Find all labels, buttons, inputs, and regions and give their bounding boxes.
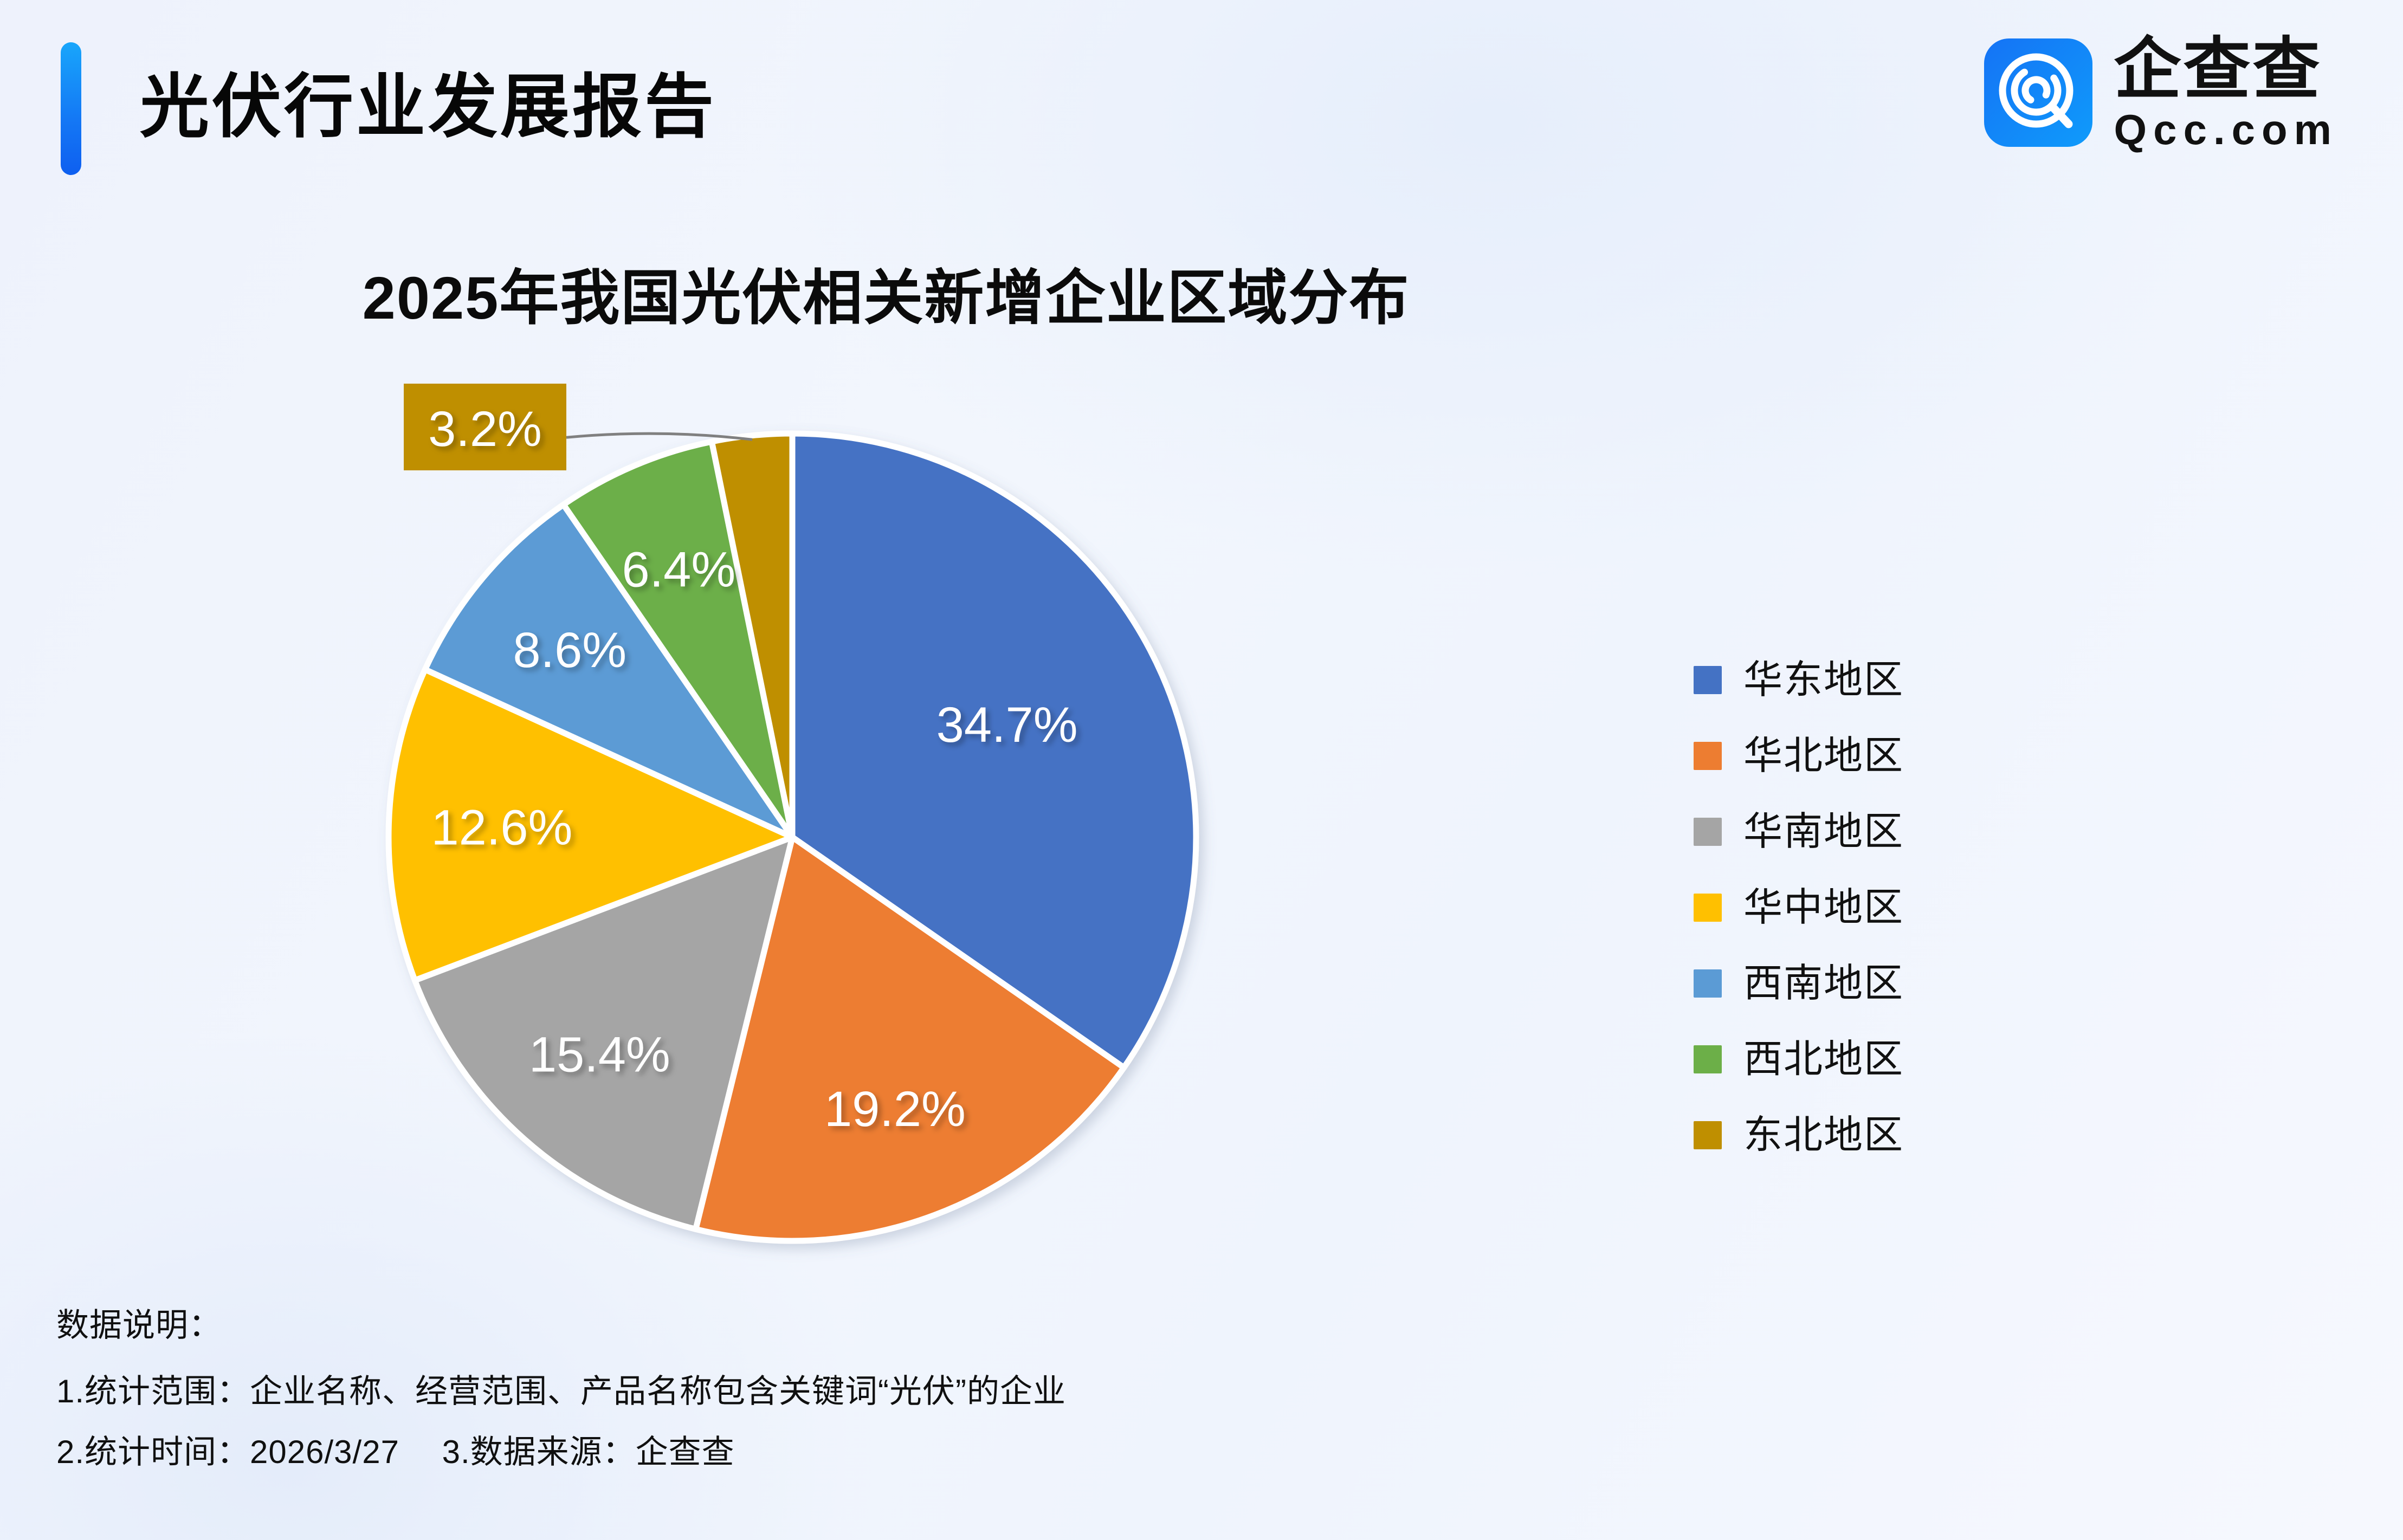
legend-item-label: 东北地区 [1743,1114,1904,1156]
page-title: 光伏行业发展报告 [140,42,716,172]
legend-item-label: 西南地区 [1743,962,1904,1005]
chart-title: 2025年我国光伏相关新增企业区域分布 [0,249,1772,336]
legend-item-label: 华北地区 [1743,735,1904,777]
pie-chart: 34.7%19.2%15.4%12.6%8.6%6.4% 3.2% [325,379,1301,1300]
data-notes: 数据说明： 1.统计范围：企业名称、经营范围、产品名称包含关键词“光伏”的企业 … [56,1295,1066,1483]
legend-item[interactable]: 西南地区 [1694,946,1904,1021]
legend-swatch-icon [1694,969,1722,998]
legend-item[interactable]: 华南地区 [1694,794,1904,870]
legend-swatch-icon [1694,894,1722,922]
notes-heading: 数据说明： [56,1295,1066,1356]
pie-slice-label: 8.6% [513,623,626,678]
title-accent-bar [61,42,81,175]
legend-swatch-icon [1694,1121,1722,1149]
legend-swatch-icon [1694,818,1722,846]
legend-swatch-icon [1694,666,1722,694]
notes-line-2: 2.统计时间：2026/3/27 3.数据来源：企查查 [56,1422,1066,1483]
notes-line-1: 1.统计范围：企业名称、经营范围、产品名称包含关键词“光伏”的企业 [56,1361,1066,1422]
report-page: 光伏行业发展报告 企查查 Qcc.com 2025年我国光伏相 [0,0,2403,1540]
pie-slice-label: 34.7% [936,697,1078,753]
legend-item[interactable]: 华中地区 [1694,870,1904,946]
legend-swatch-icon [1694,1045,1722,1073]
legend-item[interactable]: 华北地区 [1694,718,1904,794]
brand-text: 企查查 Qcc.com [2114,34,2338,152]
legend-item-label: 西北地区 [1743,1038,1904,1080]
legend-item[interactable]: 东北地区 [1694,1097,1904,1173]
chart-legend: 华东地区华北地区华南地区华中地区西南地区西北地区东北地区 [1694,642,1904,1173]
legend-swatch-icon [1694,742,1722,770]
page-header: 光伏行业发展报告 企查查 Qcc.com [0,0,2403,200]
brand-logo[interactable]: 企查查 Qcc.com [1984,34,2338,152]
pie-slice-label: 6.4% [622,542,735,597]
pie-slice-label: 19.2% [824,1082,966,1137]
legend-item-label: 华中地区 [1743,887,1904,929]
legend-item[interactable]: 华东地区 [1694,642,1904,718]
brand-name-en: Qcc.com [2114,107,2338,152]
pie-slice-label: 15.4% [529,1027,670,1083]
pie-slice-label: 12.6% [431,800,572,855]
brand-name-cn: 企查查 [2114,34,2338,105]
legend-item-label: 华东地区 [1743,659,1904,701]
qcc-spiral-q-logo-icon [1984,38,2092,147]
pie-chart-svg: 34.7%19.2%15.4%12.6%8.6%6.4% 3.2% [325,379,1301,1300]
legend-item[interactable]: 西北地区 [1694,1021,1904,1097]
pie-slice-callout-label: 3.2% [428,402,542,457]
legend-item-label: 华南地区 [1743,811,1904,853]
